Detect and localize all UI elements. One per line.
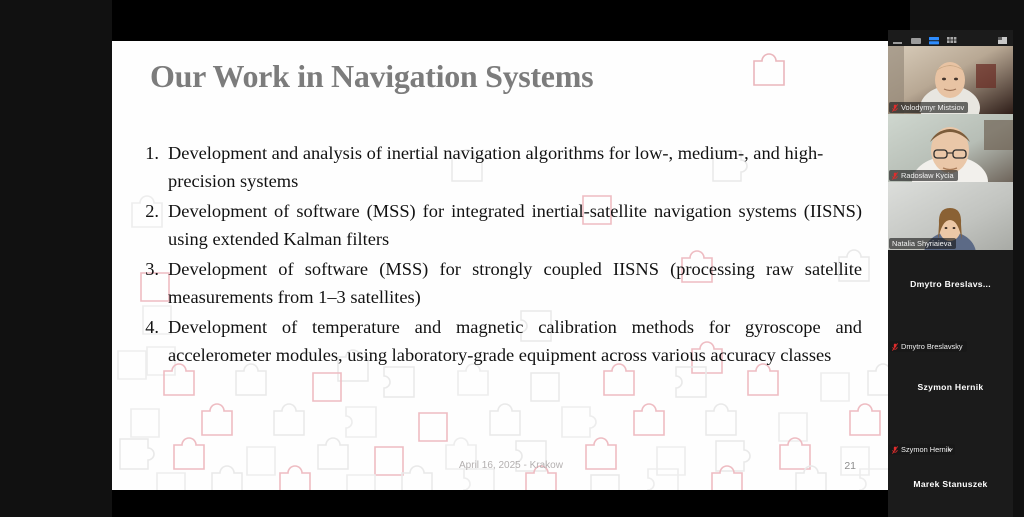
- mic-off-icon: [892, 172, 898, 180]
- side-by-side-view-icon[interactable]: [928, 33, 941, 44]
- participant-name: Natalia Shyriaieva: [892, 239, 952, 248]
- minimize-icon[interactable]: [892, 33, 905, 44]
- shared-slide[interactable]: Our Work in Navigation Systems 1. Develo…: [112, 41, 910, 490]
- slide-page-number: 21: [844, 460, 856, 472]
- participant-name-tag: Radosław Kycia: [889, 170, 958, 181]
- participant-tile-no-video[interactable]: Dmytro Breslavs...: [888, 250, 1013, 317]
- list-item-text: Development of software (MSS) for integr…: [168, 198, 862, 254]
- list-item-text: Development of software (MSS) for strong…: [168, 256, 862, 312]
- participant-name: Dmytro Breslavs...: [910, 279, 991, 289]
- speaker-view-icon[interactable]: [910, 33, 923, 44]
- participant-name: Volodymyr Mistsiov: [901, 103, 964, 112]
- participant-tile[interactable]: Radosław Kycia: [888, 114, 1013, 182]
- letterbox-top: [112, 0, 910, 41]
- participant-tile-no-video[interactable]: Szymon Hernik: [888, 353, 1013, 420]
- participant-tile-active-speaker[interactable]: Natalia Shyriaieva: [888, 182, 1013, 250]
- list-item: 4. Development of temperature and magnet…: [142, 314, 862, 370]
- participant-name-tag: Dmytro Breslavsky: [889, 341, 967, 352]
- slide-body-list: 1. Development and analysis of inertial …: [142, 140, 862, 372]
- participant-name: Marek Stanuszek: [913, 479, 987, 489]
- slide-footer-date: April 16, 2025 - Krakow: [112, 460, 910, 471]
- gallery-grid-view-icon[interactable]: [946, 33, 959, 44]
- participant-name-bar[interactable]: Dmytro Breslavsky: [888, 317, 1013, 353]
- list-item-number: 2.: [142, 198, 168, 226]
- participant-name-tag: Volodymyr Mistsiov: [889, 102, 968, 113]
- participant-tile-no-video[interactable]: Marek Stanuszek: [888, 456, 1013, 512]
- participant-full-name: Dmytro Breslavsky: [901, 342, 963, 351]
- list-item-text: Development of temperature and magnetic …: [168, 314, 862, 370]
- video-panel-toolbar[interactable]: [888, 30, 1013, 46]
- chevron-down-icon[interactable]: ⌄: [888, 443, 1013, 453]
- list-item: 3. Development of software (MSS) for str…: [142, 256, 862, 312]
- participant-name-tag: Natalia Shyriaieva: [889, 238, 956, 249]
- video-participant-panel[interactable]: Volodymyr Mistsiov: [888, 30, 1013, 455]
- mic-off-icon: [892, 343, 898, 351]
- screen-root: Our Work in Navigation Systems 1. Develo…: [0, 0, 1024, 517]
- participant-name: Szymon Hernik: [918, 382, 984, 392]
- participant-name: Radosław Kycia: [901, 171, 954, 180]
- list-item-number: 1.: [142, 140, 168, 168]
- mic-off-icon: [892, 104, 898, 112]
- slide-title: Our Work in Navigation Systems: [150, 58, 593, 95]
- popout-window-icon[interactable]: [996, 33, 1009, 44]
- participant-name-bar[interactable]: Marek Stanusz...: [888, 512, 1013, 517]
- list-item-number: 4.: [142, 314, 168, 342]
- letterbox-bottom: [112, 490, 910, 517]
- list-item-text: Development and analysis of inertial nav…: [168, 140, 862, 196]
- participant-tile[interactable]: Volodymyr Mistsiov: [888, 46, 1013, 114]
- list-item: 1. Development and analysis of inertial …: [142, 140, 862, 196]
- list-item-number: 3.: [142, 256, 168, 284]
- list-item: 2. Development of software (MSS) for int…: [142, 198, 862, 254]
